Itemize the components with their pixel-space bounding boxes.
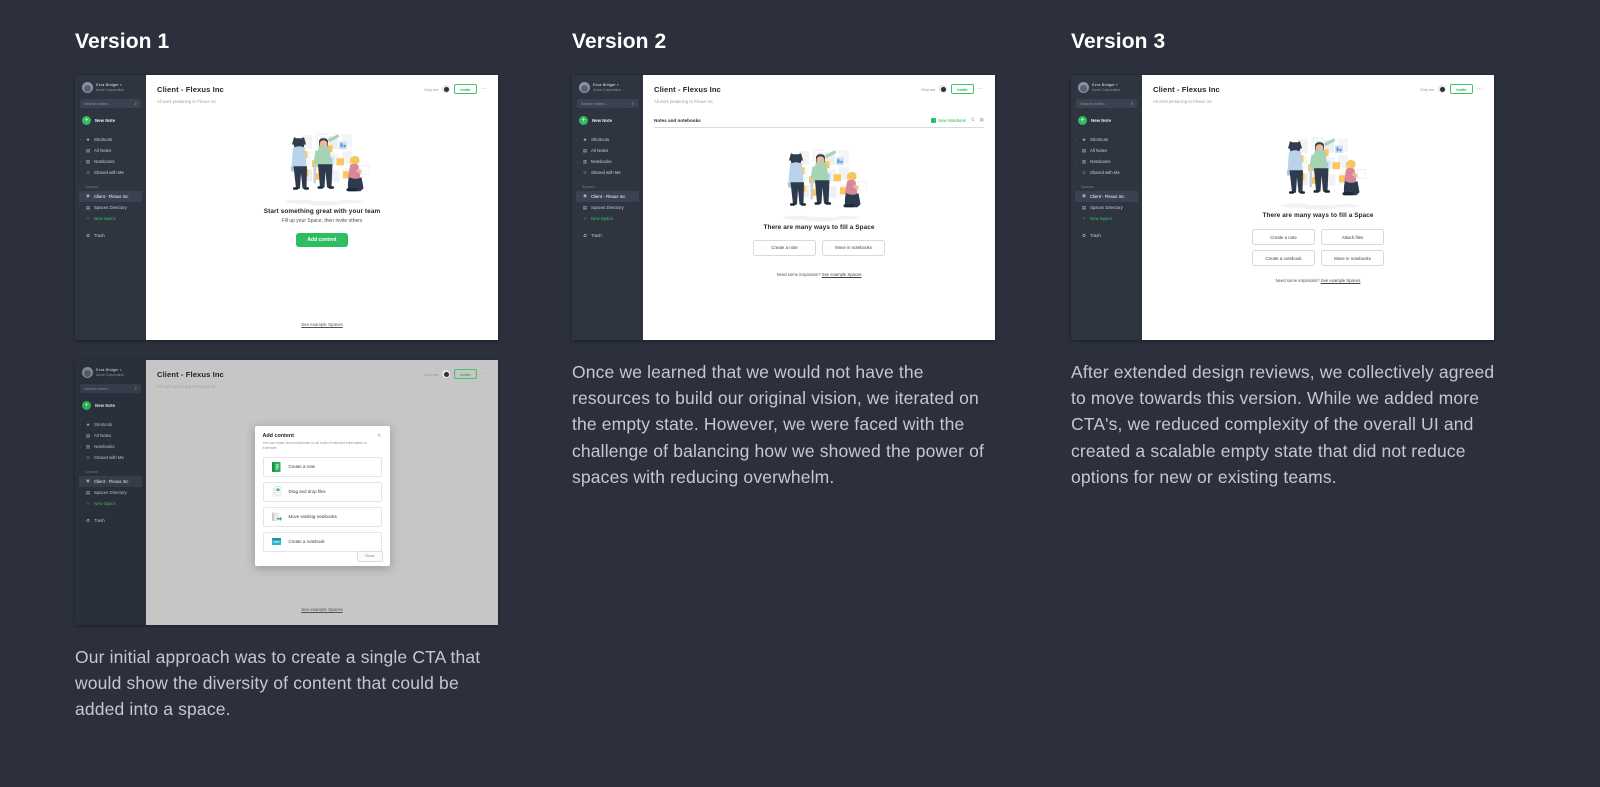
sidebar-item-shared-with-me[interactable]: ☺Shared with Me [79, 453, 142, 463]
sidebar-item-label: New Space [94, 216, 116, 221]
sidebar-item-label: All Notes [591, 148, 608, 153]
sidebar-item-label: Shortcuts [94, 137, 112, 142]
visibility-label: Only me [921, 87, 936, 92]
sidebar-item-label: All Notes [94, 148, 111, 153]
new-note-button[interactable]: + New Note [1075, 114, 1138, 127]
avatar[interactable] [939, 85, 947, 93]
search-placeholder: Search notes... [581, 101, 608, 106]
sidebar: Ezra Bridger▾ Acme Corporation Search no… [572, 75, 643, 340]
empty-state-v2: There are many ways to fill a Space Crea… [643, 128, 995, 340]
sidebar: Ezra Bridger▾ Acme Corporation Search no… [75, 360, 146, 625]
sidebar-item-label: Spaces Directory [94, 490, 127, 495]
avatar [1078, 82, 1089, 93]
invite-button[interactable]: Invite [454, 84, 476, 94]
notes-icon: ▤ [85, 433, 91, 439]
sidebar-user[interactable]: Ezra Bridger▾ Acme Corporation [79, 365, 142, 383]
sidebar-item-label: Spaces Directory [1090, 205, 1123, 210]
modal-option-move-existing-notebooks[interactable]: Move existing notebooks [263, 507, 382, 527]
sidebar-item-spaces-directory[interactable]: ▤Spaces Directory [1075, 202, 1138, 213]
space-icon: ◉ [582, 193, 588, 199]
avatar [579, 82, 590, 93]
chevron-right-icon: › [577, 138, 578, 142]
chevron-right-icon: › [577, 194, 578, 198]
sidebar-item-label: Shared with Me [1090, 170, 1120, 175]
app-screenshot-v1-empty: Ezra Bridger▾ Acme Corporation Search no… [75, 75, 498, 340]
modal-backdrop: Add content ✕ You can share and collabor… [146, 360, 498, 625]
create-a-note-button[interactable]: Create a note [753, 240, 816, 256]
add-content-modal: Add content ✕ You can share and collabor… [255, 426, 390, 566]
people-icon: ☺ [582, 170, 588, 175]
sidebar-item-shared-with-me[interactable]: ☺Shared with Me [576, 168, 639, 178]
create-a-notebook-button[interactable]: Create a notebook [1252, 250, 1315, 266]
see-example-spaces-link[interactable]: See example Spaces [822, 272, 862, 277]
people-icon: ☺ [85, 170, 91, 175]
sidebar-item-label: Spaces Directory [94, 205, 127, 210]
directory-icon: ▤ [85, 205, 91, 211]
sidebar-item-new-space[interactable]: ✧New Space [79, 213, 142, 224]
move-in-notebooks-button[interactable]: Move in notebooks [1321, 250, 1384, 266]
sidebar-user-org: Acme Corporation [593, 88, 621, 92]
sidebar-section-spaces: Spaces [576, 178, 639, 191]
close-icon[interactable]: ✕ [377, 433, 381, 439]
trash-icon: ♻ [85, 518, 91, 524]
notebook-icon: ▥ [1081, 159, 1087, 165]
sidebar-item-label: Client - Flexus Inc [94, 479, 128, 484]
notebook-icon: ▥ [85, 159, 91, 165]
sidebar-item-label: Shared with Me [591, 170, 621, 175]
sidebar-user[interactable]: Ezra Bridger▾ Acme Corporation [1075, 80, 1138, 98]
sidebar-item-spaces-directory[interactable]: ▤Spaces Directory [79, 487, 142, 498]
drag-drop-file-icon [271, 486, 282, 498]
chevron-right-icon: › [80, 423, 81, 427]
new-note-button[interactable]: + New Note [79, 114, 142, 127]
version-column-3: Version 3 Ezra Bridger▾ Acme Corporation… [1071, 0, 1541, 490]
notes-and-notebooks-toolbar: Notes and notebooks New Notebook ⇅ ▦ [654, 117, 984, 128]
new-space-icon: ✧ [1081, 216, 1087, 222]
sidebar-user-org: Acme Corporation [96, 88, 124, 92]
modal-option-create-a-notebook[interactable]: Create a notebook [263, 532, 382, 552]
see-example-spaces-link[interactable]: See example Spaces [146, 322, 498, 327]
modal-option-label: Create a notebook [289, 539, 325, 544]
modal-option-create-a-note[interactable]: Create a note [263, 457, 382, 477]
avatar[interactable] [1438, 85, 1446, 93]
sidebar-user-org: Acme Corporation [96, 373, 124, 377]
sidebar-item-trash[interactable]: ♻Trash [79, 230, 142, 241]
chevron-down-icon: ▾ [1116, 83, 1118, 87]
notebook-icon: ▥ [85, 444, 91, 450]
grid-view-icon[interactable]: ▦ [980, 117, 984, 123]
inspiration-row: Need some inspiration? See example Space… [1276, 278, 1361, 283]
sidebar-item-spaces-directory[interactable]: ▤Spaces Directory [79, 202, 142, 213]
team-collaboration-illustration [1266, 134, 1371, 212]
modal-option-label: Move existing notebooks [289, 514, 337, 519]
new-note-label: New Note [95, 118, 115, 123]
inspiration-prefix: Need some inspiration? [1276, 278, 1321, 283]
more-options-icon[interactable]: … [481, 87, 487, 91]
version-3-caption: After extended design reviews, we collec… [1071, 359, 1496, 490]
version-3-title: Version 3 [1071, 30, 1541, 54]
inspiration-row: Need some inspiration? See example Space… [777, 272, 862, 277]
chevron-right-icon: › [1076, 138, 1077, 142]
sidebar-item-label: Shared with Me [94, 170, 124, 175]
sidebar-item-label: Notebooks [591, 159, 612, 164]
app-screenshot-v1-modal: Ezra Bridger▾ Acme Corporation Search no… [75, 360, 498, 625]
main-panel: Client - Flexus Inc Only me Invite … All… [146, 360, 498, 625]
move-notebook-icon [271, 511, 282, 523]
version-column-1: Version 1 Ezra Bridger▾ Acme Corporation… [75, 0, 545, 723]
sidebar-item-trash[interactable]: ♻Trash [576, 230, 639, 241]
new-space-icon: ✧ [582, 216, 588, 222]
plus-icon: + [82, 401, 91, 410]
page-title: Client - Flexus Inc [1153, 85, 1220, 94]
attach-files-button[interactable]: Attach files [1321, 229, 1384, 245]
search-input[interactable]: Search notes... ⌕ [577, 99, 638, 108]
sidebar-section-spaces: Spaces [79, 178, 142, 191]
search-icon: ⌕ [134, 101, 137, 106]
empty-state-title: There are many ways to fill a Space [1262, 212, 1373, 219]
avatar [82, 367, 93, 378]
sidebar-item-label: New Space [591, 216, 613, 221]
empty-state-actions: Create a note Move in notebooks [753, 240, 885, 256]
move-in-notebooks-button[interactable]: Move in notebooks [822, 240, 885, 256]
modal-description: You can share and collaborate on all sor… [263, 441, 375, 452]
visibility-label: Only me [424, 87, 439, 92]
note-green-icon [271, 461, 282, 473]
sidebar-item-label: Spaces Directory [591, 205, 624, 210]
plus-icon: + [1078, 116, 1087, 125]
sidebar-item-label: Trash [1090, 233, 1101, 238]
sidebar-item-label: Shared with Me [94, 455, 124, 460]
space-icon: ◉ [1081, 193, 1087, 199]
sidebar-item-label: Trash [94, 233, 105, 238]
new-note-label: New Note [95, 403, 115, 408]
new-notebook-button[interactable]: New Notebook [931, 118, 965, 123]
sidebar-user-name: Ezra Bridger [96, 367, 119, 372]
people-icon: ☺ [1081, 170, 1087, 175]
trash-icon: ♻ [1081, 233, 1087, 239]
sidebar-item-all-notes[interactable]: ▤All Notes [1075, 145, 1138, 156]
chevron-down-icon: ▾ [120, 83, 122, 87]
new-space-icon: ✧ [85, 216, 91, 222]
space-header: Client - Flexus Inc Only me Invite … All… [1142, 75, 1494, 104]
chevron-right-icon: › [80, 138, 81, 142]
notes-icon: ▤ [1081, 148, 1087, 154]
sidebar-section-spaces: Spaces [79, 463, 142, 476]
space-icon: ◉ [85, 193, 91, 199]
sidebar-item-label: Client - Flexus Inc [1090, 194, 1124, 199]
people-icon: ☺ [85, 455, 91, 460]
chevron-right-icon: › [577, 160, 578, 164]
sidebar-item-label: Shortcuts [1090, 137, 1108, 142]
chevron-right-icon: › [1076, 160, 1077, 164]
modal-option-label: Create a note [289, 464, 316, 469]
sidebar-item-label: All Notes [94, 433, 111, 438]
chevron-right-icon: › [80, 194, 81, 198]
search-icon: ⌕ [1130, 101, 1133, 106]
invite-button[interactable]: Invite [1450, 84, 1472, 94]
new-notebook-label: New Notebook [938, 118, 965, 123]
sidebar-item-notebooks[interactable]: ›▥Notebooks [576, 156, 639, 167]
chevron-right-icon: › [80, 160, 81, 164]
page-title: Client - Flexus Inc [654, 85, 721, 94]
sidebar-item-notebooks[interactable]: ›▥Notebooks [79, 156, 142, 167]
visibility-label: Only me [1420, 87, 1435, 92]
page-subtitle: All work pertaining to Flexus Inc [654, 99, 984, 104]
sidebar-item-shared-with-me[interactable]: ☺Shared with Me [79, 168, 142, 178]
modal-title: Add content [263, 433, 382, 439]
sidebar-item-new-space[interactable]: ✧New Space [79, 498, 142, 509]
sidebar-item-shortcuts[interactable]: ›★Shortcuts [576, 134, 639, 145]
sidebar-user-org: Acme Corporation [1092, 88, 1120, 92]
sidebar-item-trash[interactable]: ♻Trash [1075, 230, 1138, 241]
space-header: Client - Flexus Inc Only me Invite … All… [146, 75, 498, 104]
directory-icon: ▤ [85, 490, 91, 496]
more-options-icon[interactable]: … [978, 87, 984, 91]
inspiration-prefix: Need some inspiration? [777, 272, 822, 277]
search-icon: ⌕ [134, 386, 137, 391]
sidebar-item-new-space[interactable]: ✧New Space [1075, 213, 1138, 224]
empty-state-actions: Create a note Attach files Create a note… [1252, 229, 1384, 266]
sidebar-item-label: Notebooks [94, 444, 115, 449]
new-note-label: New Note [592, 118, 612, 123]
avatar[interactable] [442, 85, 450, 93]
main-panel: Client - Flexus Inc Only me Invite … All… [146, 75, 498, 340]
sidebar-item-client-flexus-inc[interactable]: ›◉Client - Flexus Inc [1075, 191, 1138, 202]
empty-state-v1: Start something great with your team Fil… [146, 104, 498, 340]
add-content-button[interactable]: Add content [296, 233, 347, 247]
sidebar: Ezra Bridger▾ Acme Corporation Search no… [1071, 75, 1142, 340]
sidebar-item-label: New Space [94, 501, 116, 506]
sidebar-item-shortcuts[interactable]: ›★Shortcuts [1075, 134, 1138, 145]
sidebar-item-trash[interactable]: ♻Trash [79, 515, 142, 526]
new-note-button[interactable]: + New Note [576, 114, 639, 127]
app-screenshot-v3: Ezra Bridger▾ Acme Corporation Search no… [1071, 75, 1494, 340]
sidebar-item-all-notes[interactable]: ▤All Notes [576, 145, 639, 156]
modal-option-label: Drag and drop files [289, 489, 326, 494]
version-1-title: Version 1 [75, 30, 545, 54]
star-icon: ★ [85, 422, 91, 428]
directory-icon: ▤ [1081, 205, 1087, 211]
sidebar-item-new-space[interactable]: ✧New Space [576, 213, 639, 224]
sidebar-item-label: Notebooks [94, 159, 115, 164]
star-icon: ★ [85, 137, 91, 143]
sidebar-user-name: Ezra Bridger [593, 82, 616, 87]
sidebar-item-label: Trash [591, 233, 602, 238]
search-placeholder: Search notes... [84, 386, 111, 391]
chevron-right-icon: › [80, 479, 81, 483]
notebook-icon: ▥ [582, 159, 588, 165]
sidebar-user[interactable]: Ezra Bridger▾ Acme Corporation [79, 80, 142, 98]
sidebar: Ezra Bridger▾ Acme Corporation Search no… [75, 75, 146, 340]
star-icon: ★ [1081, 137, 1087, 143]
sidebar-item-spaces-directory[interactable]: ▤Spaces Directory [576, 202, 639, 213]
avatar [82, 82, 93, 93]
main-panel: Client - Flexus Inc Only me Invite … All… [1142, 75, 1494, 340]
sidebar-item-label: All Notes [1090, 148, 1107, 153]
search-input[interactable]: Search notes... ⌕ [1076, 99, 1137, 108]
sidebar-item-shortcuts[interactable]: ›★Shortcuts [79, 134, 142, 145]
sidebar-item-label: Shortcuts [591, 137, 609, 142]
trash-icon: ♻ [582, 233, 588, 239]
see-example-spaces-link[interactable]: See example Spaces [146, 607, 498, 612]
sidebar-item-label: Trash [94, 518, 105, 523]
sidebar-item-notebooks[interactable]: ›▥Notebooks [79, 441, 142, 452]
search-icon: ⌕ [631, 101, 634, 106]
notes-icon: ▤ [85, 148, 91, 154]
done-button[interactable]: Done [357, 551, 382, 562]
empty-state-title: There are many ways to fill a Space [763, 224, 874, 231]
sort-icon[interactable]: ⇅ [971, 117, 975, 123]
chevron-right-icon: › [1076, 194, 1077, 198]
sidebar-section-spaces: Spaces [1075, 178, 1138, 191]
sidebar-item-client-flexus-inc[interactable]: ›◉Client - Flexus Inc [79, 191, 142, 202]
notebook-teal-icon [271, 536, 282, 548]
chevron-down-icon: ▾ [120, 368, 122, 372]
sidebar-item-all-notes[interactable]: ▤All Notes [79, 145, 142, 156]
sidebar-item-client-flexus-inc[interactable]: ›◉Client - Flexus Inc [79, 476, 142, 487]
space-icon: ◉ [85, 478, 91, 484]
version-1-caption: Our initial approach was to create a sin… [75, 644, 500, 723]
chevron-down-icon: ▾ [617, 83, 619, 87]
sidebar-item-label: Client - Flexus Inc [94, 194, 128, 199]
version-column-2: Version 2 Ezra Bridger▾ Acme Corporation… [572, 0, 1042, 490]
gallery-page: Version 1 Ezra Bridger▾ Acme Corporation… [0, 0, 1600, 787]
empty-state-title: Start something great with your team [264, 208, 381, 215]
sidebar-item-label: Client - Flexus Inc [591, 194, 625, 199]
new-note-button[interactable]: + New Note [79, 399, 142, 412]
version-2-title: Version 2 [572, 30, 1042, 54]
create-a-note-button[interactable]: Create a note [1252, 229, 1315, 245]
sidebar-user-name: Ezra Bridger [1092, 82, 1115, 87]
main-panel: Client - Flexus Inc Only me Invite … All… [643, 75, 995, 340]
sidebar-item-client-flexus-inc[interactable]: ›◉Client - Flexus Inc [576, 191, 639, 202]
see-example-spaces-link[interactable]: See example Spaces [1321, 278, 1361, 283]
app-screenshot-v2: Ezra Bridger▾ Acme Corporation Search no… [572, 75, 995, 340]
sidebar-item-shared-with-me[interactable]: ☺Shared with Me [1075, 168, 1138, 178]
new-space-icon: ✧ [85, 501, 91, 507]
empty-state-v3: There are many ways to fill a Space Crea… [1142, 104, 1494, 340]
sidebar-item-shortcuts[interactable]: ›★Shortcuts [79, 419, 142, 430]
plus-icon: + [82, 116, 91, 125]
search-placeholder: Search notes... [84, 101, 111, 106]
new-note-label: New Note [1091, 118, 1111, 123]
chevron-right-icon: › [80, 445, 81, 449]
invite-button[interactable]: Invite [951, 84, 973, 94]
notes-toolbar-title: Notes and notebooks [654, 118, 701, 123]
notes-icon: ▤ [582, 148, 588, 154]
sidebar-user[interactable]: Ezra Bridger▾ Acme Corporation [576, 80, 639, 98]
sidebar-user-name: Ezra Bridger [96, 82, 119, 87]
directory-icon: ▤ [582, 205, 588, 211]
more-options-icon[interactable]: … [1477, 87, 1483, 91]
search-input[interactable]: Search notes... ⌕ [80, 99, 141, 108]
search-placeholder: Search notes... [1080, 101, 1107, 106]
page-title: Client - Flexus Inc [157, 85, 224, 94]
team-collaboration-illustration [767, 146, 872, 224]
notebook-icon [931, 118, 936, 123]
star-icon: ★ [582, 137, 588, 143]
plus-icon: + [579, 116, 588, 125]
sidebar-item-all-notes[interactable]: ▤All Notes [79, 430, 142, 441]
search-input[interactable]: Search notes... ⌕ [80, 384, 141, 393]
sidebar-item-label: Notebooks [1090, 159, 1111, 164]
version-2-caption: Once we learned that we would not have t… [572, 359, 997, 490]
sidebar-item-label: New Space [1090, 216, 1112, 221]
trash-icon: ♻ [85, 233, 91, 239]
sidebar-item-label: Shortcuts [94, 422, 112, 427]
sidebar-item-notebooks[interactable]: ›▥Notebooks [1075, 156, 1138, 167]
modal-option-drag-and-drop-files[interactable]: Drag and drop files [263, 482, 382, 502]
space-header: Client - Flexus Inc Only me Invite … All… [643, 75, 995, 104]
team-collaboration-illustration [270, 130, 375, 208]
empty-state-subtitle: Fill up your Space, then invite others [282, 218, 363, 224]
